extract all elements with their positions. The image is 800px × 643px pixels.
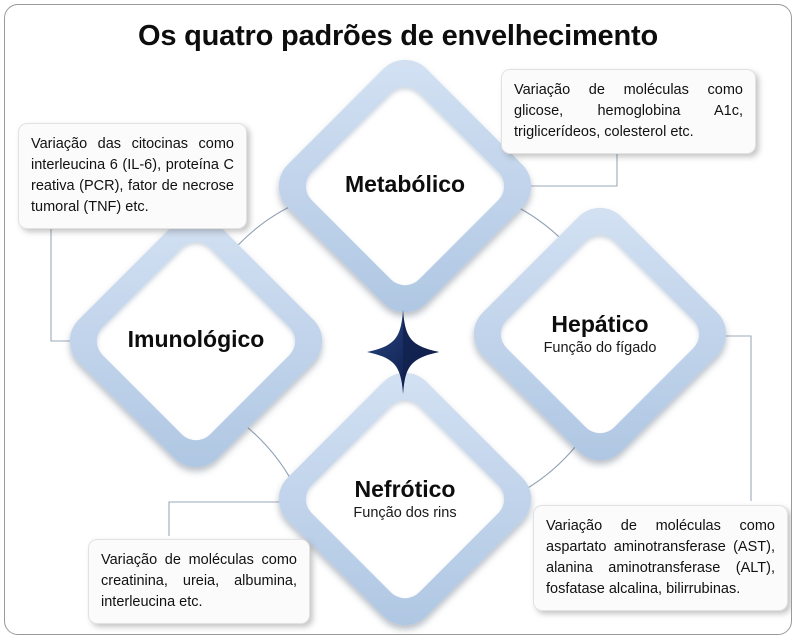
callout-text: Variação das citocinas como interleucina…	[31, 136, 234, 215]
callout-text: Variação de moléculas como aspartato ami…	[546, 518, 775, 597]
callout-imunologico: Variação das citocinas como interleucina…	[18, 123, 247, 229]
four-pointed-star-icon	[367, 310, 439, 394]
callout-metabolico: Variação de moléculas como glicose, hemo…	[501, 69, 756, 154]
callout-hepatico: Variação de moléculas como aspartato ami…	[533, 505, 788, 611]
callout-text: Variação de moléculas como glicose, hemo…	[514, 82, 743, 140]
callout-nefrotico: Variação de moléculas como creatinina, u…	[88, 539, 310, 624]
callout-text: Variação de moléculas como creatinina, u…	[101, 552, 297, 610]
diagram-frame: Os quatro padrões de envelhecimento Meta…	[4, 4, 792, 635]
